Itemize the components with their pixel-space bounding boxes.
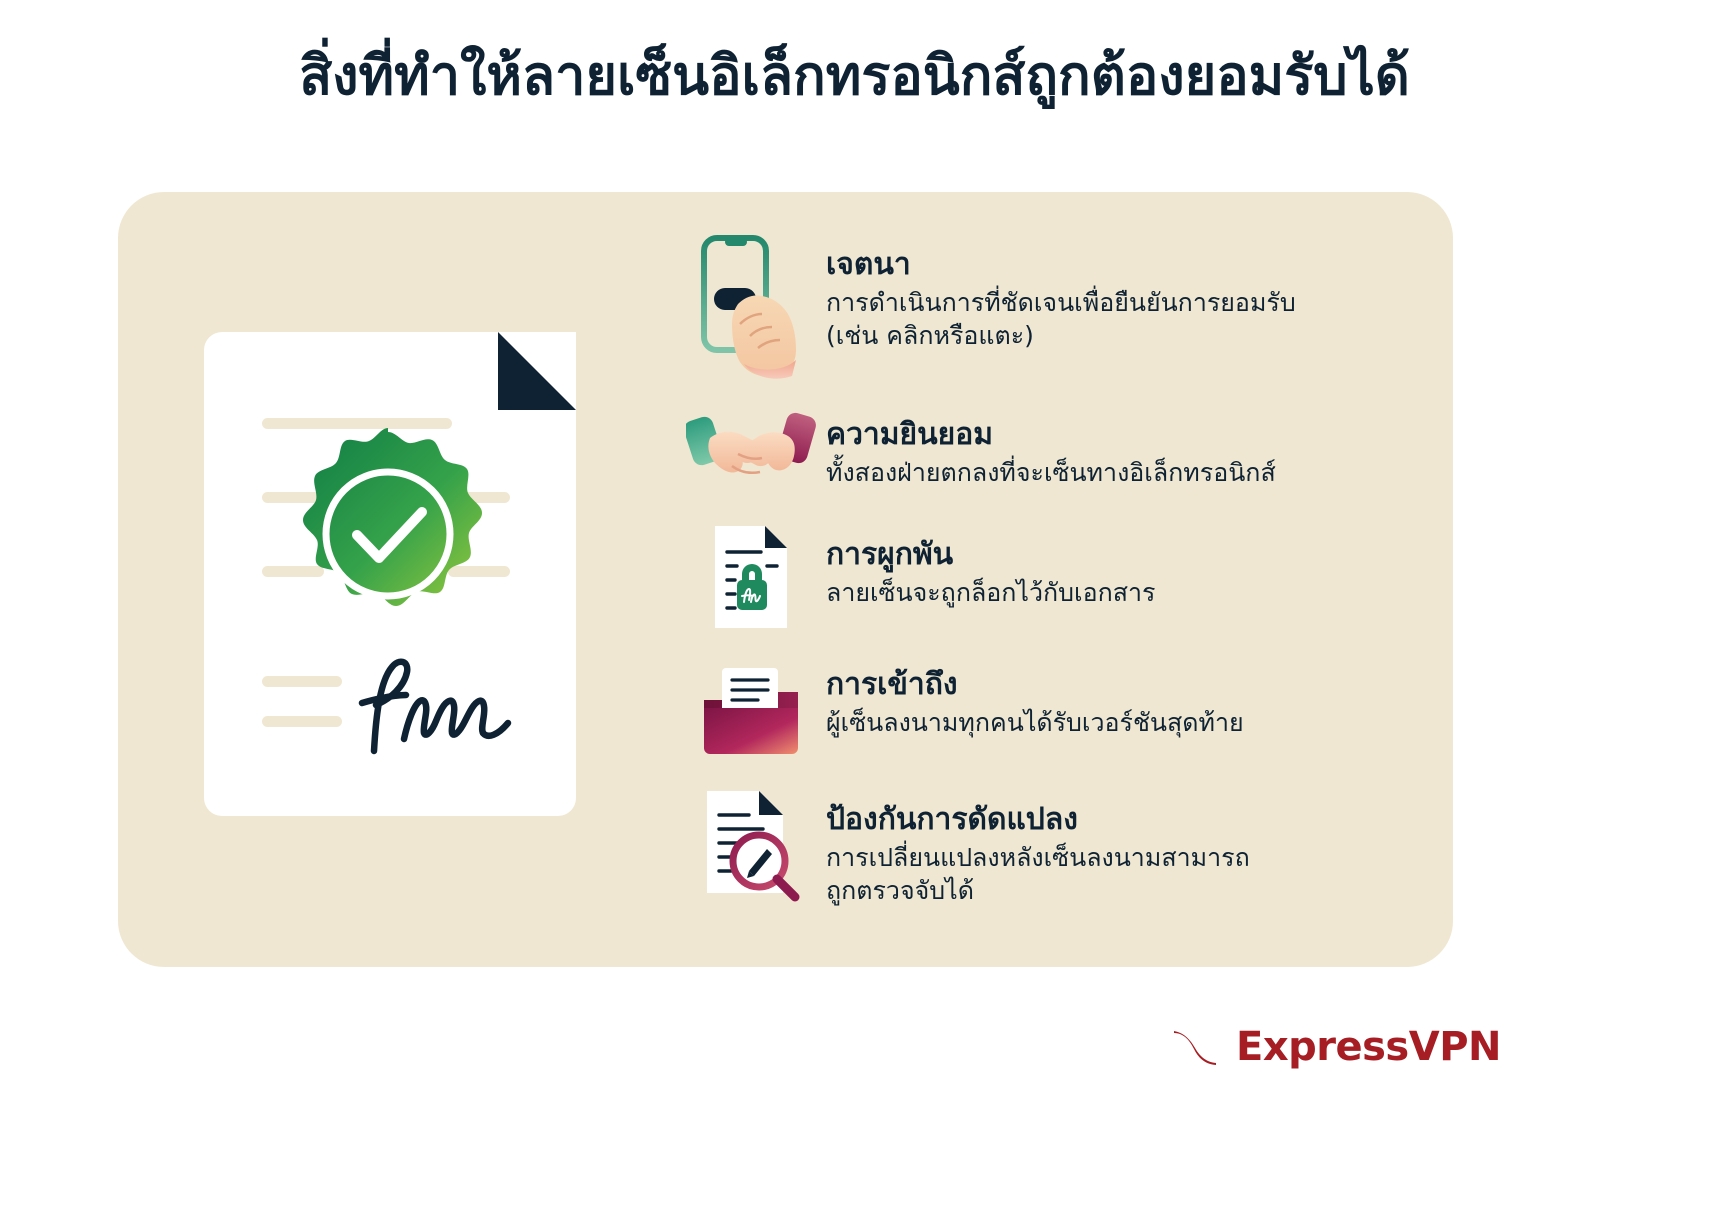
list-item-description: ผู้เซ็นลงนามทุกคนได้รับเวอร์ชันสุดท้าย <box>826 706 1244 739</box>
phone-tap-hand-icon <box>676 232 826 382</box>
document-magnifier-inspect-icon <box>676 787 826 903</box>
list-item: ความยินยอม ทั้งสองฝ่ายตกลงที่จะเซ็นทางอิ… <box>676 402 1396 522</box>
list-item-text: ป้องกันการดัดแปลง การเปลี่ยนแปลงหลังเซ็น… <box>826 787 1250 907</box>
list-item-description: การดำเนินการที่ชัดเจนเพื่อยืนยันการยอมรั… <box>826 286 1296 352</box>
list-item-title: การเข้าถึง <box>826 666 1244 704</box>
expressvpn-logo: ExpressVPN <box>1168 1020 1501 1074</box>
list-item-text: การผูกพัน ลายเซ็นจะถูกล็อกไว้กับเอกสาร <box>826 522 1155 609</box>
list-item-title: ป้องกันการดัดแปลง <box>826 801 1250 839</box>
list-item: ป้องกันการดัดแปลง การเปลี่ยนแปลงหลังเซ็น… <box>676 787 1396 927</box>
list-item-title: ความยินยอม <box>826 416 1276 454</box>
document-folder-access-icon <box>676 652 826 762</box>
list-item-title: การผูกพัน <box>826 536 1155 574</box>
list-item: การเข้าถึง ผู้เซ็นลงนามทุกคนได้รับเวอร์ช… <box>676 652 1396 787</box>
list-item: เจตนา การดำเนินการที่ชัดเจนเพื่อยืนยันกา… <box>676 232 1396 402</box>
handwritten-signature-icon <box>352 655 522 760</box>
handshake-icon <box>676 402 826 498</box>
doc-text-line <box>262 716 342 727</box>
doc-text-line <box>262 676 342 687</box>
list-item-text: ความยินยอม ทั้งสองฝ่ายตกลงที่จะเซ็นทางอิ… <box>826 402 1276 489</box>
list-item-text: การเข้าถึง ผู้เซ็นลงนามทุกคนได้รับเวอร์ช… <box>826 652 1244 739</box>
list-item-description: ทั้งสองฝ่ายตกลงที่จะเซ็นทางอิเล็กทรอนิกส… <box>826 456 1276 489</box>
list-item: การผูกพัน ลายเซ็นจะถูกล็อกไว้กับเอกสาร <box>676 522 1396 652</box>
list-item-description: การเปลี่ยนแปลงหลังเซ็นลงนามสามารถ ถูกตรว… <box>826 841 1250 907</box>
expressvpn-logo-mark <box>1168 1020 1222 1074</box>
locked-document-icon <box>676 522 826 632</box>
list-item-text: เจตนา การดำเนินการที่ชัดเจนเพื่อยืนยันกา… <box>826 232 1296 352</box>
list-item-title: เจตนา <box>826 246 1296 284</box>
verified-check-badge-icon <box>282 428 494 640</box>
list-item-description: ลายเซ็นจะถูกล็อกไว้กับเอกสาร <box>826 576 1155 609</box>
expressvpn-logo-text: ExpressVPN <box>1236 1024 1501 1070</box>
page-title: สิ่งที่ทำให้ลายเซ็นอิเล็กทรอนิกส์ถูกต้อง… <box>0 42 1709 110</box>
feature-list: เจตนา การดำเนินการที่ชัดเจนเพื่อยืนยันกา… <box>676 232 1396 927</box>
